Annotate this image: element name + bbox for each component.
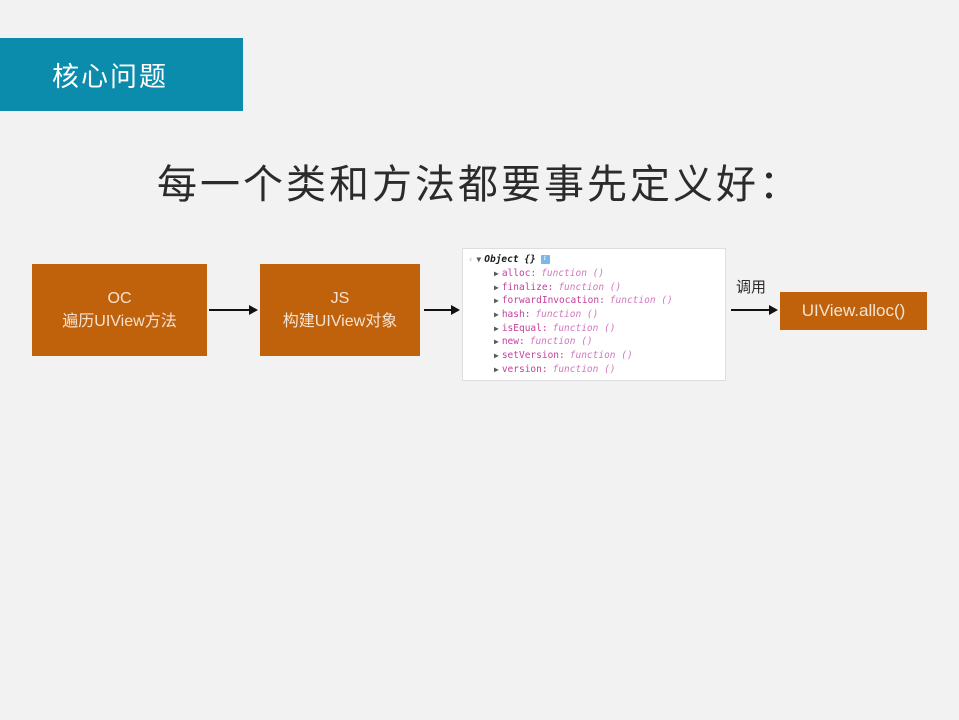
console-property-row[interactable]: ▶ new : function () <box>463 335 725 349</box>
page-title: 每一个类和方法都要事先定义好： <box>0 152 959 210</box>
console-property-row[interactable]: ▶ finalize : function () <box>463 280 725 294</box>
chevron-right-icon[interactable]: ▶ <box>494 269 499 278</box>
console-property-name: hash <box>502 309 525 320</box>
console-property-name: alloc <box>502 268 531 279</box>
flow-arrow-js-to-console <box>424 304 460 316</box>
flow-box-oc: OC 遍历UIView方法 <box>32 264 207 356</box>
arrow-shaft <box>424 309 452 311</box>
chevron-right-icon[interactable]: ▶ <box>494 310 499 319</box>
console-property-name: setVersion <box>502 350 559 361</box>
flow-diagram: OC 遍历UIView方法 JS 构建UIView对象 ‹ ▼ Object {… <box>0 240 959 390</box>
flow-arrow-oc-to-js <box>209 304 258 316</box>
console-property-value: function () <box>553 364 616 375</box>
console-property-colon: : <box>548 282 554 293</box>
chevron-right-icon[interactable]: ▶ <box>494 324 499 333</box>
chevron-down-icon[interactable]: ▼ <box>476 255 481 264</box>
console-property-colon: : <box>599 295 605 306</box>
chevron-right-icon[interactable]: ▶ <box>494 283 499 292</box>
flow-box-uiview-alloc-label: UIView.alloc() <box>802 299 906 324</box>
arrow-head-icon <box>451 305 460 315</box>
flow-arrow-console-to-call <box>731 304 778 316</box>
flow-arrow-label-call: 调用 <box>736 276 766 297</box>
console-property-row[interactable]: ▶ forwardInvocation : function () <box>463 294 725 308</box>
console-property-name: forwardInvocation <box>502 295 599 306</box>
arrow-head-icon <box>249 305 258 315</box>
flow-box-oc-line1: OC <box>108 287 132 310</box>
info-icon[interactable] <box>541 255 550 264</box>
console-property-colon: : <box>530 268 536 279</box>
console-property-colon: : <box>525 309 531 320</box>
console-property-row[interactable]: ▶ version : function () <box>463 363 725 377</box>
console-property-name: version <box>502 364 542 375</box>
chevron-right-icon[interactable]: ▶ <box>494 337 499 346</box>
console-root-label: Object {} <box>484 254 535 265</box>
flow-box-js: JS 构建UIView对象 <box>260 264 420 356</box>
flow-box-uiview-alloc: UIView.alloc() <box>780 292 927 330</box>
console-property-row[interactable]: ▶ setVersion : function () <box>463 349 725 363</box>
console-object-inspector: ‹ ▼ Object {} ▶ alloc : function () ▶ fi… <box>462 248 726 381</box>
console-property-colon: : <box>542 323 548 334</box>
console-property-colon: : <box>559 350 565 361</box>
console-property-value: function () <box>553 323 616 334</box>
arrow-shaft <box>209 309 250 311</box>
console-property-row[interactable]: ▶ hash : function () <box>463 308 725 322</box>
chevron-left-icon[interactable]: ‹ <box>468 255 473 265</box>
flow-box-js-line1: JS <box>331 287 350 310</box>
chevron-right-icon[interactable]: ▶ <box>494 296 499 305</box>
section-banner-label: 核心问题 <box>0 55 168 94</box>
flow-box-oc-line2: 遍历UIView方法 <box>62 310 176 333</box>
console-property-value: function () <box>541 268 604 279</box>
section-banner: 核心问题 <box>0 38 243 111</box>
console-property-colon: : <box>542 364 548 375</box>
console-property-value: function () <box>610 295 673 306</box>
console-property-name: new <box>502 336 519 347</box>
console-property-value: function () <box>530 336 593 347</box>
arrow-shaft <box>731 309 770 311</box>
chevron-right-icon[interactable]: ▶ <box>494 365 499 374</box>
console-property-colon: : <box>519 336 525 347</box>
chevron-right-icon[interactable]: ▶ <box>494 351 499 360</box>
console-property-value: function () <box>558 282 621 293</box>
console-property-row[interactable]: ▶ isEqual : function () <box>463 321 725 335</box>
arrow-head-icon <box>769 305 778 315</box>
console-property-value: function () <box>570 350 633 361</box>
console-property-name: isEqual <box>502 323 542 334</box>
console-property-row[interactable]: ▶ alloc : function () <box>463 267 725 281</box>
console-property-name: finalize <box>502 282 548 293</box>
console-property-value: function () <box>535 309 598 320</box>
console-root-row[interactable]: ‹ ▼ Object {} <box>463 253 725 267</box>
flow-box-js-line2: 构建UIView对象 <box>283 310 397 333</box>
